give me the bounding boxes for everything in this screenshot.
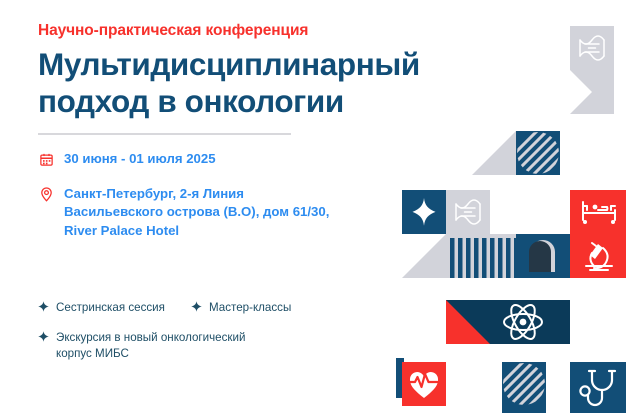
feature-list: Сестринская сессия Мастер-классы Экскурс <box>38 300 358 376</box>
sparkle-icon <box>38 330 49 343</box>
red-triangle-tile <box>446 300 490 344</box>
feature-item-0: Сестринская сессия <box>38 300 191 316</box>
hospital-bed-tile <box>570 190 626 278</box>
dna-tile-top <box>570 26 614 70</box>
grey-triangle-large <box>402 234 490 278</box>
feature-line-2: Экскурсия в новый онкологический корпус … <box>38 330 358 362</box>
striped-circle-tile-upper <box>495 115 573 193</box>
feature-line-1: Сестринская сессия Мастер-классы <box>38 300 358 316</box>
sparkle-tile <box>402 190 446 234</box>
calendar-icon <box>38 151 55 168</box>
event-date: 30 июня - 01 июля 2025 <box>64 150 216 168</box>
striped-circle-tile-lower <box>481 346 559 413</box>
text-column: Научно-практическая конференция Мультиди… <box>38 22 398 120</box>
conference-poster: Научно-практическая конференция Мультиди… <box>0 0 626 413</box>
location-row: Санкт-Петербург, 2-я Линия Васильевского… <box>38 185 368 240</box>
barcode-tile <box>446 234 528 278</box>
event-kicker: Научно-практическая конференция <box>38 22 398 39</box>
date-row: 30 июня - 01 июля 2025 <box>38 150 368 168</box>
feature-label-0: Сестринская сессия <box>56 300 165 316</box>
feature-label-2: Экскурсия в новый онкологический корпус … <box>56 330 245 362</box>
navy-sliver-left <box>396 358 404 398</box>
sparkle-icon <box>38 300 49 313</box>
microscope-tile <box>570 234 626 278</box>
feature-label-1: Мастер-классы <box>209 300 291 316</box>
arch-scanner-tile <box>516 234 570 278</box>
event-details: 30 июня - 01 июля 2025 Санкт-Петербург, … <box>38 150 368 257</box>
feature-item-2: Экскурсия в новый онкологический корпус … <box>38 330 245 362</box>
feature-item-1: Мастер-классы <box>191 300 291 316</box>
atom-tile <box>446 300 570 344</box>
event-title: Мультидисциплинарный подход в онкологии <box>38 46 398 120</box>
map-pin-icon <box>38 186 55 203</box>
sparkle-icon <box>191 300 202 313</box>
grey-triangle-upper <box>570 70 614 114</box>
grey-triangle-mid <box>472 131 516 175</box>
header-divider <box>38 133 291 135</box>
stethoscope-tile <box>570 362 626 413</box>
event-location: Санкт-Петербург, 2-я Линия Васильевского… <box>64 185 329 240</box>
heart-pulse-tile <box>402 362 446 406</box>
dna-tile-lower <box>446 190 490 234</box>
